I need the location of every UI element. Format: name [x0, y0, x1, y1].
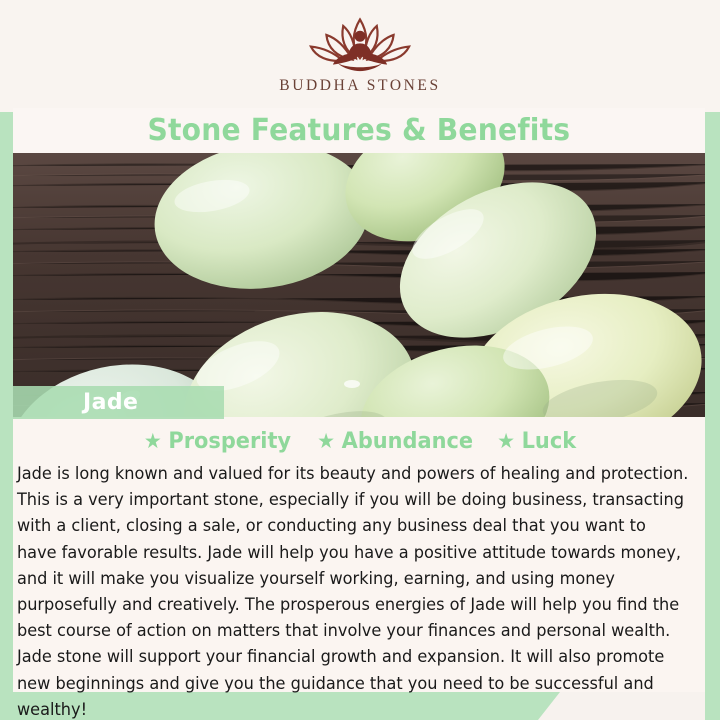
stone-description: Jade is long known and valued for its be… [13, 459, 695, 720]
stone-benefits-poster: BUDDHA STONES Stone Features & Benefits … [0, 0, 720, 720]
header-title-band: Stone Features & Benefits [13, 108, 705, 153]
star-icon: ★ [317, 431, 335, 452]
stone-name-label: Jade [13, 390, 138, 415]
benefit-item-prosperity: ★ Prosperity [135, 429, 299, 454]
lotus-meditation-icon [294, 13, 426, 75]
brand-header: BUDDHA STONES [0, 0, 720, 112]
benefit-label: Prosperity [168, 429, 291, 454]
benefit-label: Luck [522, 429, 576, 454]
benefit-item-luck: ★ Luck [488, 429, 584, 454]
benefit-label: Abundance [341, 429, 472, 454]
content-panel: ★ Prosperity ★ Abundance ★ Luck Jade is … [13, 417, 705, 692]
star-icon: ★ [144, 431, 162, 452]
jade-stones-photo [0, 152, 720, 417]
star-icon: ★ [497, 431, 515, 452]
page-title: Stone Features & Benefits [148, 113, 571, 148]
benefits-row: ★ Prosperity ★ Abundance ★ Luck [13, 423, 705, 459]
stone-name-band: Jade [13, 386, 224, 419]
brand-name: BUDDHA STONES [279, 77, 440, 95]
photo-artwork [0, 152, 720, 417]
benefit-item-abundance: ★ Abundance [308, 429, 481, 454]
